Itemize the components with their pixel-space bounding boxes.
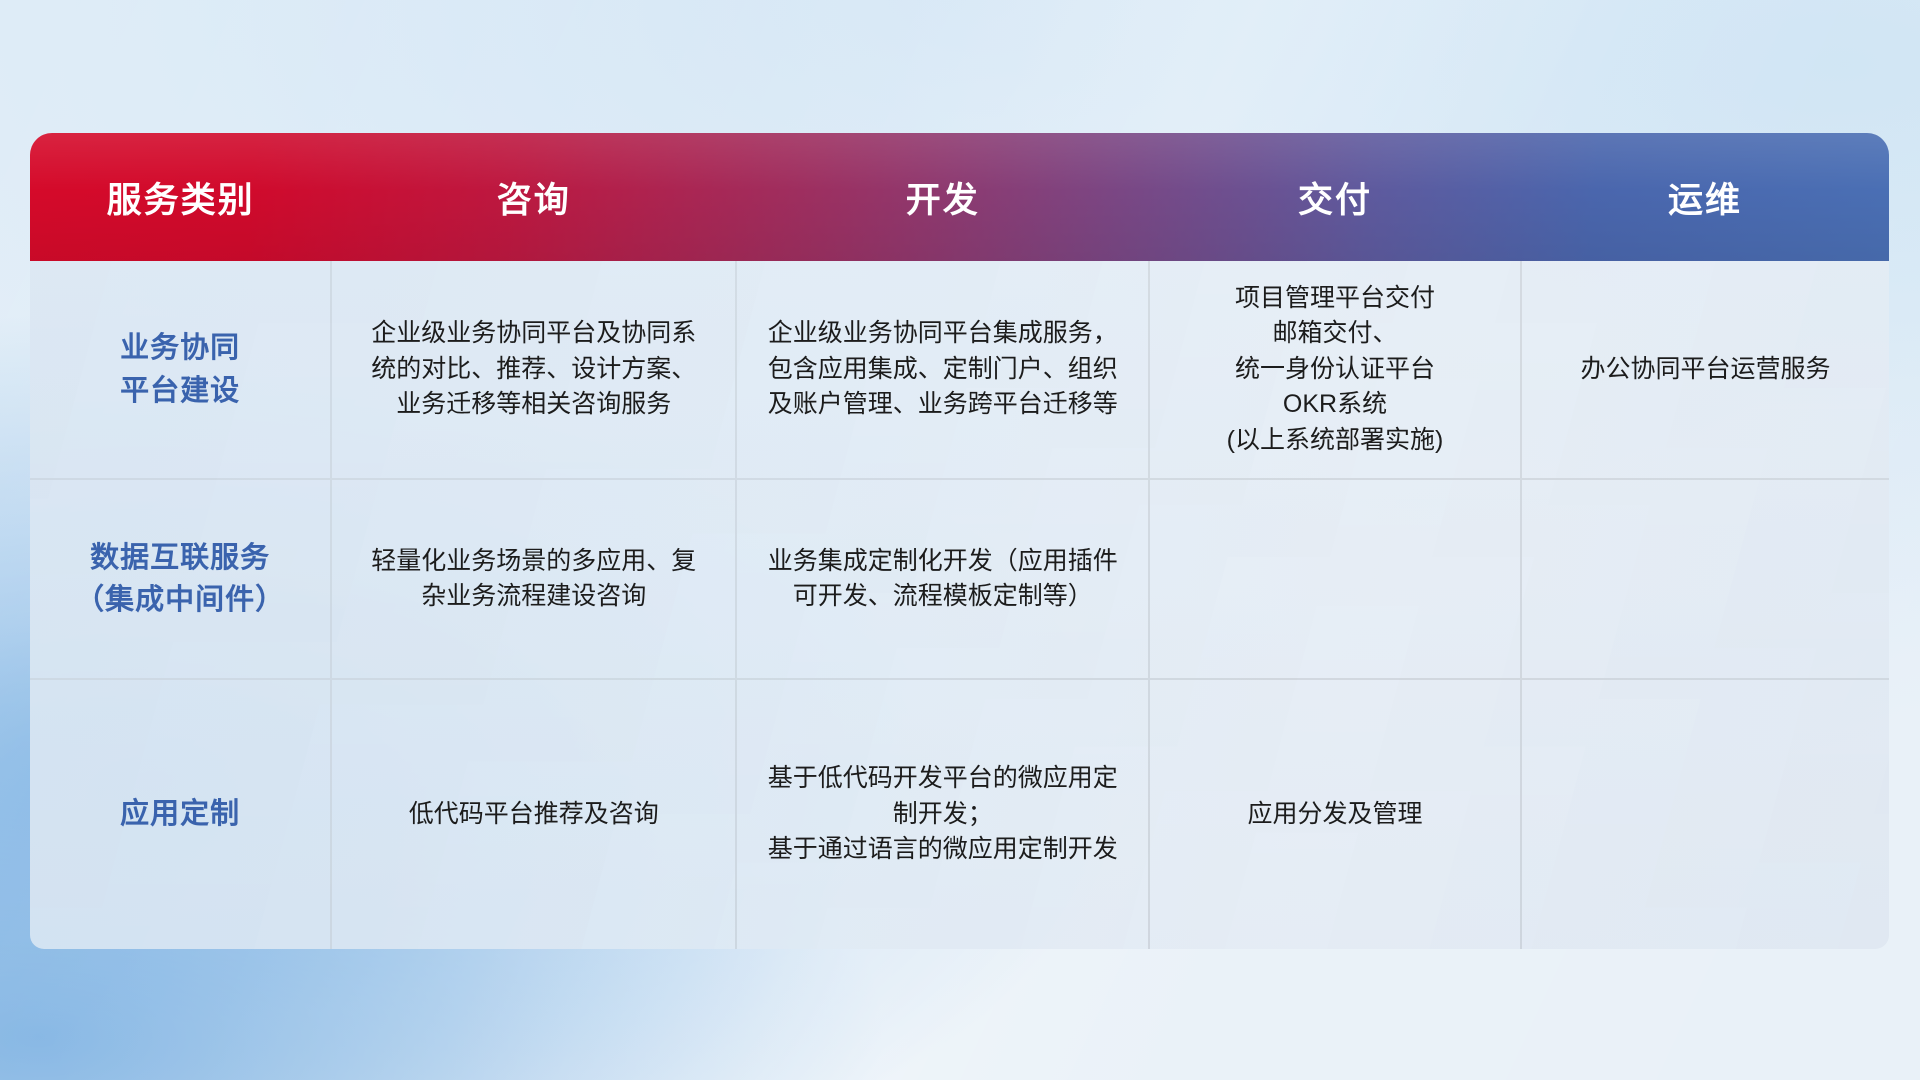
table-row: 业务协同 平台建设 企业级业务协同平台及协同系 统的对比、推荐、设计方案、 业务…: [30, 261, 1889, 479]
row-category-label: 数据互联服务 （集成中间件）: [30, 479, 331, 679]
column-header-delivery: 交付: [1149, 133, 1521, 261]
cell-consulting: 企业级业务协同平台及协同系 统的对比、推荐、设计方案、 业务迁移等相关咨询服务: [331, 261, 736, 479]
cell-delivery: [1149, 479, 1521, 679]
cell-operations: 办公协同平台运营服务: [1521, 261, 1889, 479]
cell-development: 企业级业务协同平台集成服务， 包含应用集成、定制门户、组织 及账户管理、业务跨平…: [736, 261, 1149, 479]
header-row: 服务类别 咨询 开发 交付 运维: [30, 133, 1889, 261]
table-row: 应用定制 低代码平台推荐及咨询 基于低代码开发平台的微应用定 制开发； 基于通过…: [30, 679, 1889, 949]
cell-development: 基于低代码开发平台的微应用定 制开发； 基于通过语言的微应用定制开发: [736, 679, 1149, 949]
service-matrix: 服务类别 咨询 开发 交付 运维 业务协同 平台建设 企业级业务协同平台及协同系…: [30, 133, 1889, 949]
table-head: 服务类别 咨询 开发 交付 运维: [30, 133, 1889, 261]
cell-consulting: 低代码平台推荐及咨询: [331, 679, 736, 949]
cell-operations: [1521, 479, 1889, 679]
cell-operations: [1521, 679, 1889, 949]
column-header-category: 服务类别: [30, 133, 331, 261]
row-category-label: 业务协同 平台建设: [30, 261, 331, 479]
table-body: 业务协同 平台建设 企业级业务协同平台及协同系 统的对比、推荐、设计方案、 业务…: [30, 261, 1889, 949]
table-row: 数据互联服务 （集成中间件） 轻量化业务场景的多应用、复 杂业务流程建设咨询 业…: [30, 479, 1889, 679]
row-category-label: 应用定制: [30, 679, 331, 949]
column-header-operations: 运维: [1521, 133, 1889, 261]
service-matrix-table: 服务类别 咨询 开发 交付 运维 业务协同 平台建设 企业级业务协同平台及协同系…: [30, 133, 1889, 949]
column-header-development: 开发: [736, 133, 1149, 261]
cell-consulting: 轻量化业务场景的多应用、复 杂业务流程建设咨询: [331, 479, 736, 679]
column-header-consulting: 咨询: [331, 133, 736, 261]
cell-delivery: 项目管理平台交付 邮箱交付、 统一身份认证平台 OKR系统 (以上系统部署实施): [1149, 261, 1521, 479]
cell-development: 业务集成定制化开发（应用插件 可开发、流程模板定制等）: [736, 479, 1149, 679]
cell-delivery: 应用分发及管理: [1149, 679, 1521, 949]
